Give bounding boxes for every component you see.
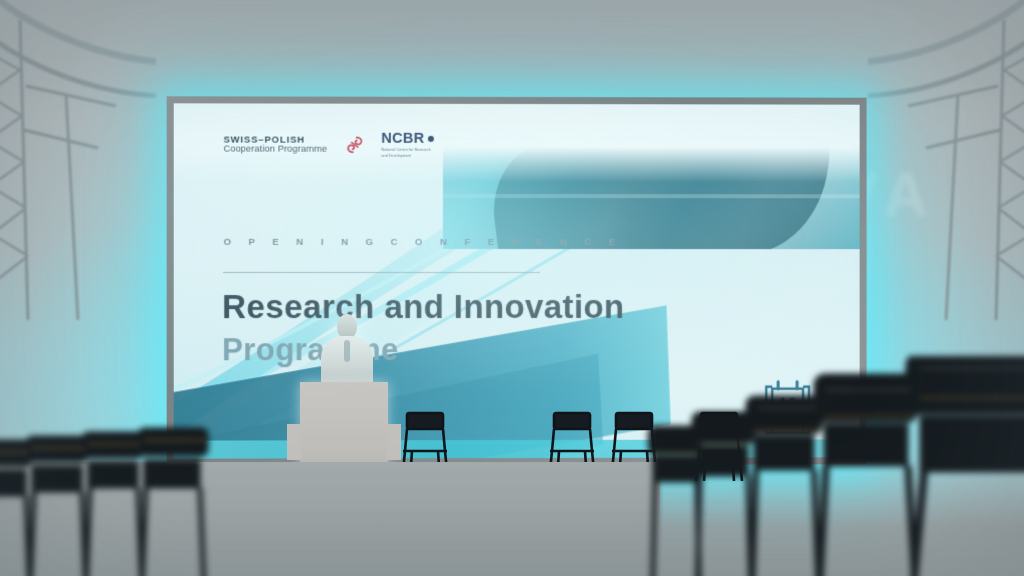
lighting-truss-right xyxy=(868,0,1024,320)
slide-logo-row: SWISS–POLISH Cooperation Programme NCBR … xyxy=(223,130,433,159)
swiss-polish-swirl-mark-icon xyxy=(343,134,365,156)
swiss-polish-logo: SWISS–POLISH Cooperation Programme xyxy=(223,135,327,155)
slide-divider-rule xyxy=(223,272,539,273)
ncbr-logo: NCBR National Centre for Research and De… xyxy=(381,131,433,160)
ncbr-wordmark: NCBR xyxy=(381,131,424,147)
podium-ledge-left xyxy=(287,424,301,460)
conference-hall-scene: VAVA xyxy=(0,0,1024,576)
ncbr-subtitle-line1: National Centre for Research xyxy=(381,148,433,153)
ncbr-dot-icon xyxy=(428,136,434,142)
slide-eyebrow: O P E N I N G C O N F E R E N C E xyxy=(223,237,622,248)
speaker xyxy=(318,314,376,390)
ncbr-subtitle-line2: and Development xyxy=(381,154,433,159)
audience-chairs-right xyxy=(648,356,1024,576)
lighting-truss-left xyxy=(0,0,156,320)
slide-title-line1: Research and Innovation xyxy=(222,288,624,326)
speaker-tie xyxy=(344,340,350,362)
podium-ledge-right xyxy=(387,424,401,460)
audience-chairs-left xyxy=(0,416,220,576)
ncbr-wordmark-row: NCBR xyxy=(381,131,433,147)
swiss-polish-line2: Cooperation Programme xyxy=(223,145,327,155)
